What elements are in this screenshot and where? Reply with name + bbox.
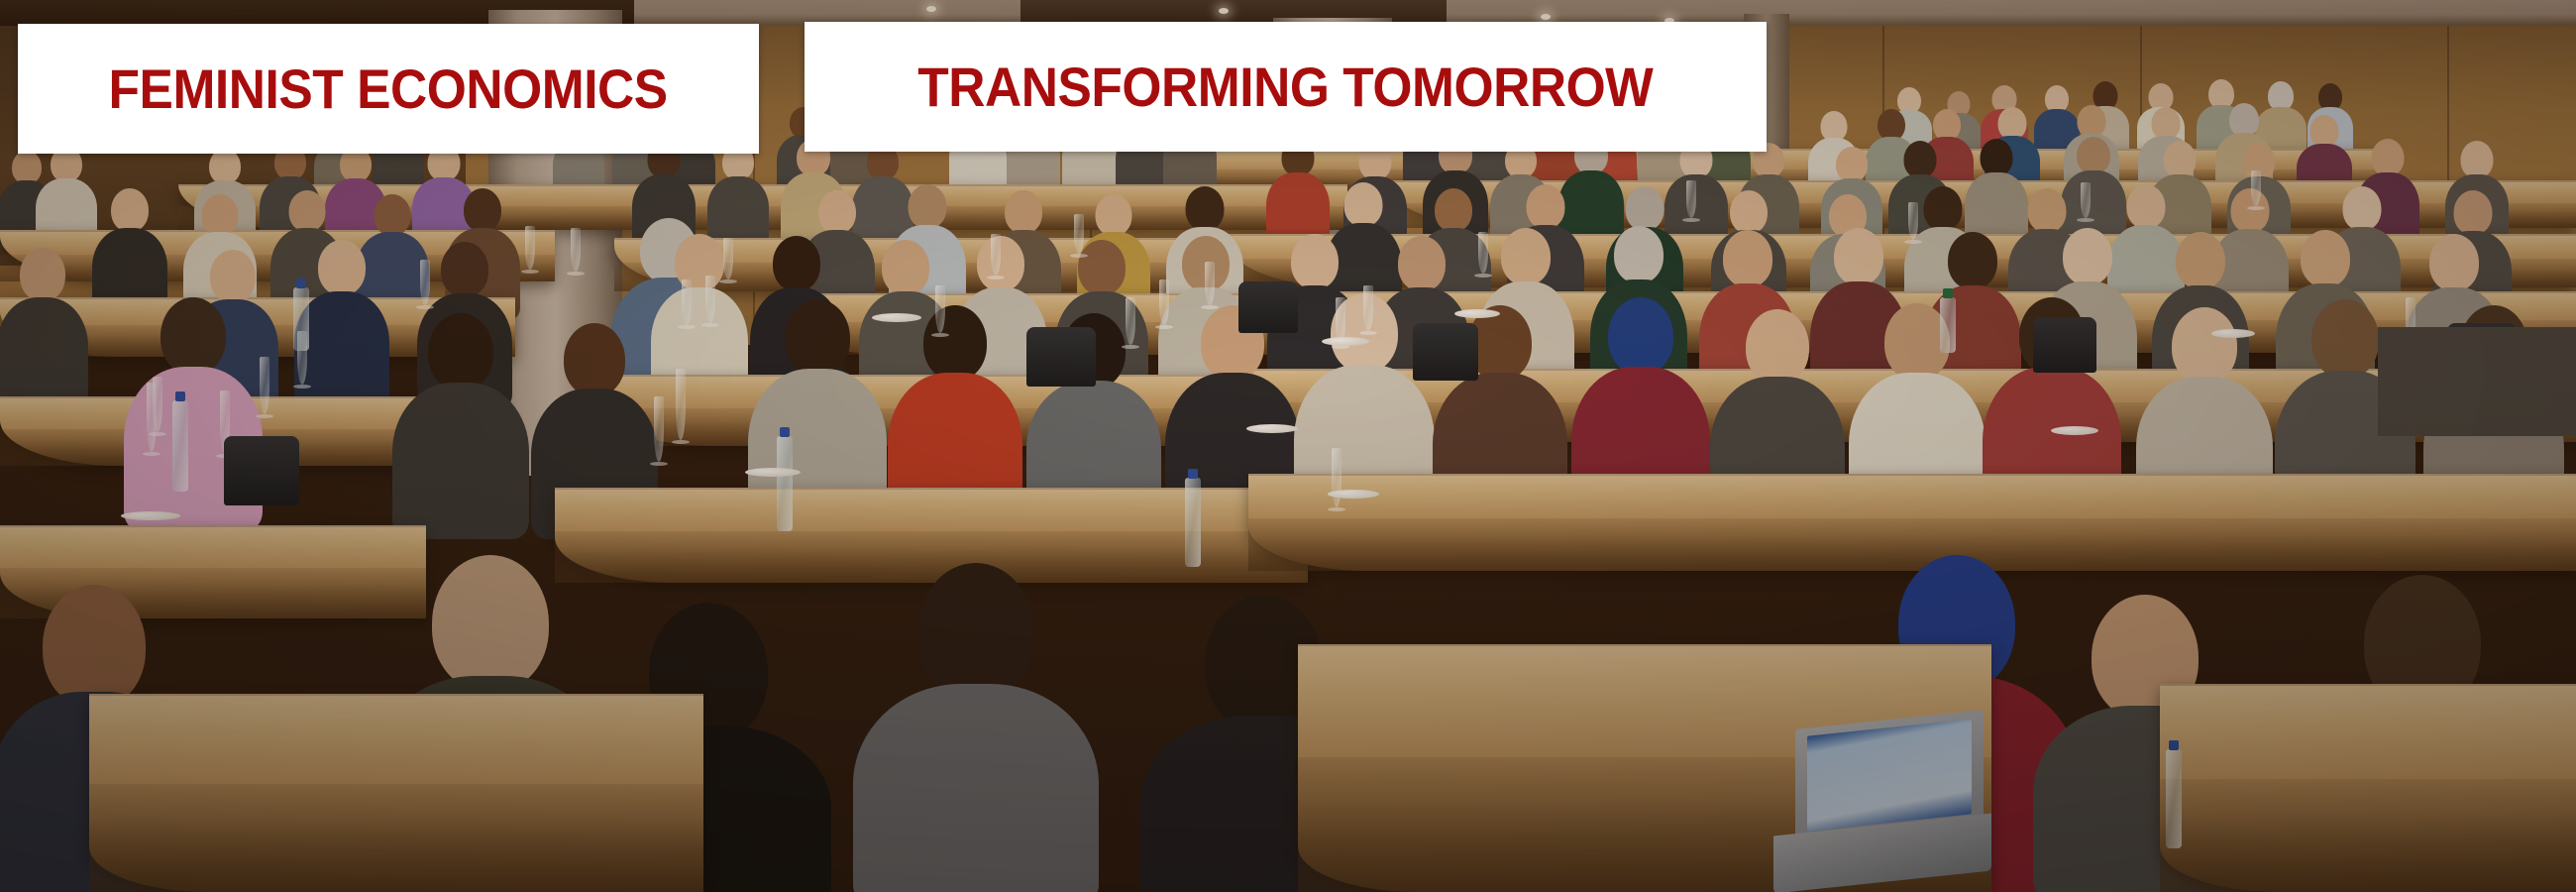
banner-text-line-2: TRANSFORMING TOMORROW: [917, 55, 1653, 119]
banner-feminist-economics: FEMINIST ECONOMICS: [18, 24, 759, 154]
banner-text-line-1: FEMINIST ECONOMICS: [109, 56, 668, 121]
screenshot-root: FEMINIST ECONOMICS TRANSFORMING TOMORROW: [0, 0, 2576, 892]
banner-transforming-tomorrow: TRANSFORMING TOMORROW: [805, 22, 1767, 152]
